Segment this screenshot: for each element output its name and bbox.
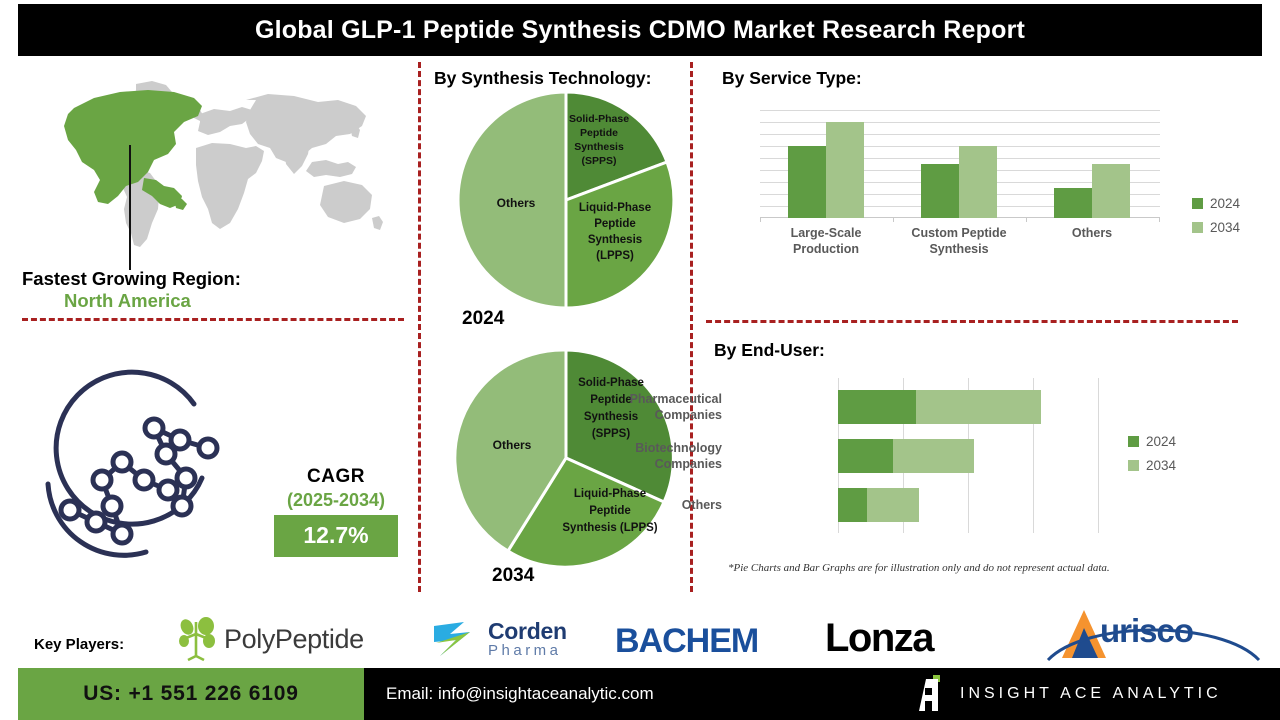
pie-2024-lpps-line2: Peptide	[594, 218, 636, 230]
bar-2024	[788, 146, 826, 218]
footer-bar: Email: info@insightaceanalytic.com INSIG…	[364, 668, 1280, 720]
pie-2034-label-others: Others	[472, 438, 552, 452]
pie-2034-spps-line1: Solid-Phase	[578, 377, 644, 389]
bar-2034	[826, 122, 864, 218]
footer-email[interactable]: Email: info@insightaceanalytic.com	[386, 684, 654, 704]
section-title-end-user: By End-User:	[714, 340, 825, 361]
cagr-period: (2025-2034)	[256, 490, 416, 511]
lonza-wordmark: Lonza	[825, 616, 933, 661]
category-label-large-scale-production: Large-Scale Production	[761, 225, 891, 257]
category-label-others: Others	[1027, 225, 1157, 241]
cat-line2: Synthesis	[929, 242, 988, 256]
legend-swatch-2024	[1128, 436, 1139, 447]
chart-disclaimer-footnote: *Pie Charts and Bar Graphs are for illus…	[728, 562, 1198, 574]
page-title: Global GLP-1 Peptide Synthesis CDMO Mark…	[255, 16, 1025, 45]
legend-item-2024: 2024	[1128, 434, 1176, 449]
key-players-label: Key Players:	[34, 636, 124, 653]
fastest-growing-region-value: North America	[64, 290, 404, 312]
end-user-plot-area: Pharmaceutical Companies Biotechnology C…	[838, 378, 1098, 533]
axis-tick	[760, 218, 761, 222]
segment-2034	[893, 439, 974, 473]
cat-line2: Companies	[655, 408, 722, 422]
bar-group	[788, 110, 864, 218]
stacked-bar-row-biotechnology	[838, 439, 974, 473]
pie-2024-label-others: Others	[476, 196, 556, 210]
divider-horizontal-right	[706, 320, 1238, 323]
bar-2034	[1092, 164, 1130, 218]
bachem-wordmark: BACHEM	[615, 622, 758, 661]
category-label-others: Others	[562, 497, 722, 513]
cat-line2: Production	[793, 242, 859, 256]
service-type-bar-chart: Large-Scale Production Custom Peptide Sy…	[752, 110, 1192, 235]
footer-brand: INSIGHT ACE ANALYTIC	[914, 675, 1222, 713]
divider-vertical-left	[418, 62, 421, 592]
legend-item-2024: 2024	[1192, 196, 1240, 211]
logo-corden-pharma[interactable]: Corden Pharma	[430, 616, 567, 662]
cat-line1: Custom Peptide	[911, 226, 1006, 240]
legend-item-2034: 2034	[1192, 220, 1240, 235]
pie-2024-lpps-line4: (LPPS)	[596, 250, 634, 262]
infographic-page: Global GLP-1 Peptide Synthesis CDMO Mark…	[0, 0, 1280, 720]
pie-2024-label-spps: Solid-Phase Peptide Synthesis (SPPS)	[544, 112, 654, 168]
cagr-block: CAGR (2025-2034) 12.7%	[256, 466, 416, 557]
polypeptide-mark-icon	[176, 616, 218, 662]
pie-2024-lpps-line1: Liquid-Phase	[579, 202, 651, 214]
pie-2024-lpps-line3: Synthesis	[588, 234, 642, 246]
segment-2024	[838, 488, 867, 522]
corden-wordmark: Corden	[488, 620, 567, 642]
pie-2034-lpps-line3: Synthesis (LPPS)	[562, 522, 657, 534]
insightace-a-mark-icon	[914, 675, 944, 713]
stacked-bar-row-pharmaceutical	[838, 390, 1041, 424]
pie-2024-spps-line2: Peptide	[580, 127, 618, 139]
service-type-legend: 2024 2034	[1192, 196, 1240, 244]
cagr-title: CAGR	[256, 466, 416, 488]
divider-horizontal-left	[22, 318, 404, 321]
bar-2024	[921, 164, 959, 218]
end-user-bar-chart: Pharmaceutical Companies Biotechnology C…	[728, 378, 1188, 540]
logo-lonza[interactable]: Lonza	[825, 616, 933, 661]
legend-swatch-2024	[1192, 198, 1203, 209]
peptide-chain-circle-icon	[26, 358, 248, 580]
legend-item-2034: 2034	[1128, 458, 1176, 473]
cagr-value-badge: 12.7%	[274, 515, 398, 557]
axis-tick	[1026, 218, 1027, 222]
logo-polypeptide[interactable]: PolyPeptide	[176, 616, 364, 662]
cat-line1: Pharmaceutical	[630, 392, 722, 406]
category-label-biotechnology-companies: Biotechnology Companies	[562, 440, 722, 472]
logo-aurisco[interactable]: urisco	[1028, 612, 1193, 650]
legend-label-2034: 2034	[1146, 458, 1176, 473]
pie-2034-year: 2034	[492, 565, 534, 587]
pie-2024-spps-line1: Solid-Phase	[569, 113, 629, 125]
stacked-bar-row-others	[838, 488, 919, 522]
segment-2024	[838, 439, 893, 473]
pie-2024-spps-line3: Synthesis	[574, 141, 624, 153]
pie-2034-spps-line4: (SPPS)	[592, 428, 630, 440]
gridline	[1098, 378, 1099, 533]
bar-group	[1054, 110, 1130, 218]
bar-2024	[1054, 188, 1092, 218]
legend-swatch-2034	[1128, 460, 1139, 471]
legend-label-2024: 2024	[1210, 196, 1240, 211]
end-user-legend: 2024 2034	[1128, 434, 1176, 482]
corden-pharma-mark-icon	[430, 616, 482, 662]
pharma-wordmark: Pharma	[488, 642, 567, 659]
segment-2024	[838, 390, 916, 424]
service-type-plot-area: Large-Scale Production Custom Peptide Sy…	[760, 110, 1160, 218]
legend-label-2034: 2034	[1210, 220, 1240, 235]
map-leader-line	[129, 145, 131, 270]
pie-2024-label-lpps: Liquid-Phase Peptide Synthesis (LPPS)	[560, 200, 670, 264]
cat-line2: Companies	[655, 457, 722, 471]
section-title-service-type: By Service Type:	[722, 68, 862, 89]
aurisco-swoosh-icon	[1046, 618, 1261, 662]
pie-2024-spps-line4: (SPPS)	[581, 155, 616, 167]
cat-line1: Others	[682, 498, 722, 512]
polypeptide-wordmark: PolyPeptide	[224, 624, 364, 655]
cat-line1: Biotechnology	[635, 441, 722, 455]
segment-2034	[867, 488, 919, 522]
world-map	[24, 78, 396, 258]
header-bar: Global GLP-1 Peptide Synthesis CDMO Mark…	[18, 4, 1262, 56]
category-label-pharmaceutical-companies: Pharmaceutical Companies	[562, 391, 722, 423]
axis-tick	[1159, 218, 1160, 222]
axis-tick	[893, 218, 894, 222]
category-label-custom-peptide-synthesis: Custom Peptide Synthesis	[894, 225, 1024, 257]
cat-line1: Large-Scale	[791, 226, 862, 240]
fastest-growing-region-label: Fastest Growing Region:	[22, 268, 402, 290]
pie-2024-year: 2024	[462, 308, 504, 330]
section-title-synthesis-technology: By Synthesis Technology:	[434, 68, 652, 89]
bar-2034	[959, 146, 997, 218]
cat-line1: Others	[1072, 226, 1112, 240]
legend-swatch-2034	[1192, 222, 1203, 233]
bar-group	[921, 110, 997, 218]
legend-label-2024: 2024	[1146, 434, 1176, 449]
footer-brand-name: INSIGHT ACE ANALYTIC	[960, 685, 1222, 703]
logo-bachem[interactable]: BACHEM	[615, 622, 758, 661]
segment-2034	[916, 390, 1041, 424]
footer-phone[interactable]: US: +1 551 226 6109	[18, 668, 364, 720]
